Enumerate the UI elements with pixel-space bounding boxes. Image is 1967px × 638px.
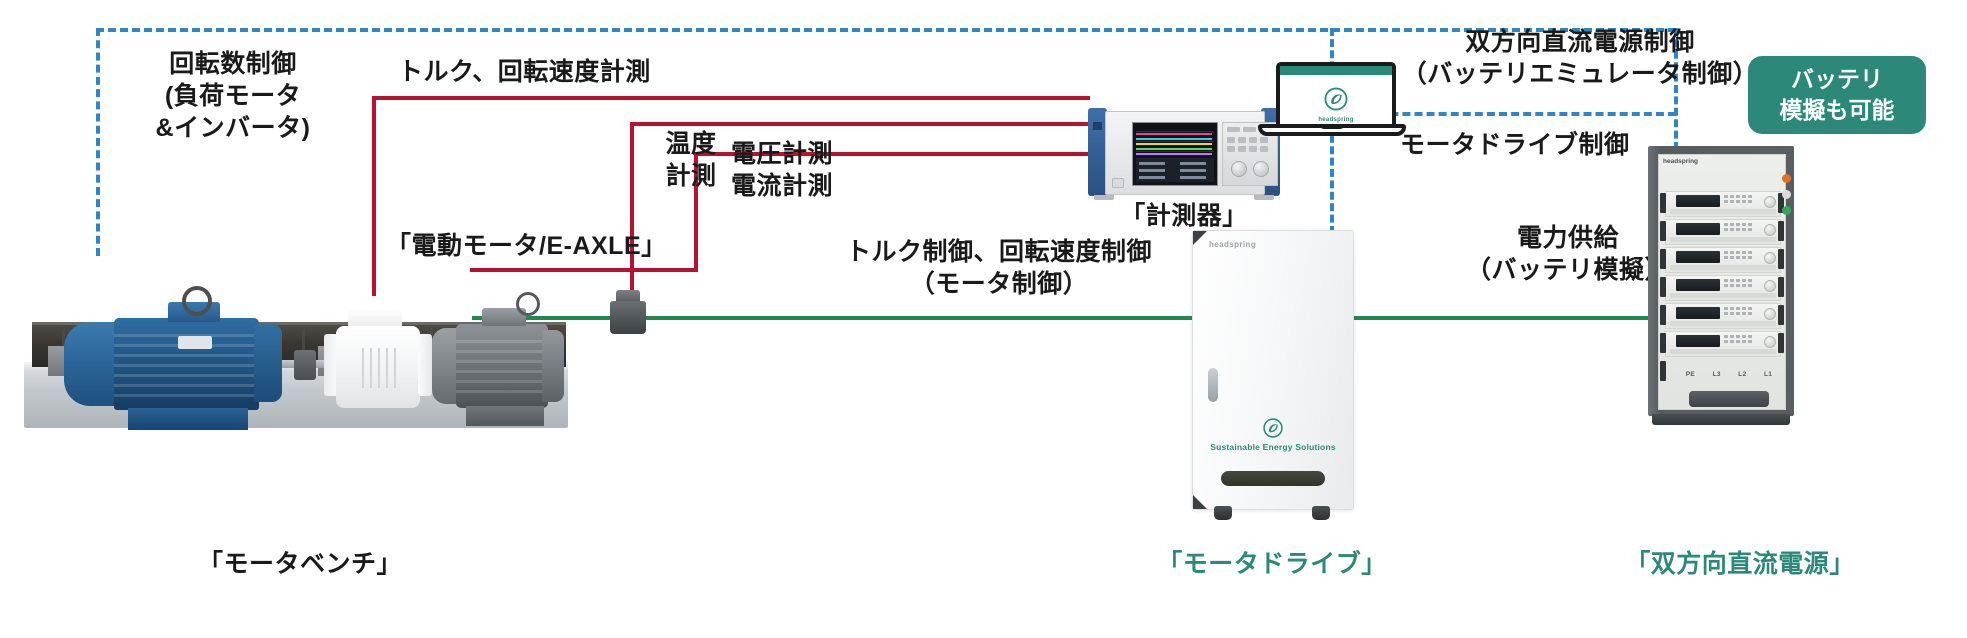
- laptop-trackpad-notch: [1320, 124, 1344, 129]
- terminal-l1: L1: [1764, 371, 1772, 378]
- motor-drive-cabinet: headspring Sustainable Energy Solutions: [1192, 230, 1352, 520]
- measure-line-torque-horizontal: [372, 96, 1090, 100]
- cabinet-caster: [1312, 506, 1330, 520]
- power-supply-unit: [1665, 247, 1781, 273]
- motor-drive-vent: [1221, 471, 1325, 486]
- power-supply-unit: [1665, 275, 1781, 301]
- motor-drive-brand-label: headspring: [1209, 240, 1256, 249]
- power-supply-unit: [1665, 331, 1781, 357]
- label-torque-speed-measure: トルク、回転速度計測: [398, 56, 651, 88]
- meter-readout-area: [1136, 158, 1214, 182]
- power-line-drive-to-supply: [1348, 316, 1654, 320]
- motor-bench-assembly: [18, 236, 578, 436]
- control-laptop: headspring: [1258, 62, 1406, 142]
- laptop-screen-titlebar: [1280, 66, 1392, 75]
- connector-box-body: [610, 301, 646, 334]
- dc-power-supply-caption: 「双方向直流電源」: [1570, 548, 1910, 580]
- power-supply-unit: [1665, 191, 1781, 217]
- measure-line-temp-horizontal: [630, 122, 1090, 126]
- load-motor-eyebolt: [182, 286, 212, 316]
- terminal-l3: L3: [1713, 371, 1721, 378]
- motor-drive-tagline: Sustainable Energy Solutions: [1193, 442, 1353, 452]
- test-motor-base: [466, 406, 544, 426]
- motor-drive-body: headspring Sustainable Energy Solutions: [1192, 230, 1354, 510]
- load-motor-base: [128, 408, 248, 430]
- cabinet-corner-tl: [1193, 231, 1207, 245]
- meter-chassis: [1105, 111, 1265, 195]
- laptop-brand-label: headspring: [1280, 117, 1392, 123]
- terminal-pe: PE: [1686, 371, 1695, 378]
- shaft-coupling-left: [294, 350, 316, 380]
- load-motor-housing: [114, 318, 259, 410]
- badge-line-1: バッテリ: [1791, 64, 1883, 95]
- battery-emulation-badge: バッテリ 模擬も可能: [1748, 56, 1926, 134]
- terminal-l2: L2: [1738, 371, 1746, 378]
- label-motor-drive-control: モータドライブ制御: [1400, 129, 1630, 161]
- diagram-canvas: 回転数制御 (負荷モータ &インバータ) トルク、回転速度計測 温度 計測 電圧…: [0, 0, 1967, 638]
- status-led-green: [1782, 206, 1791, 215]
- measuring-instrument: [1088, 108, 1280, 196]
- laptop-screen: headspring: [1276, 62, 1396, 132]
- label-voltage-current-measure: 電圧計測 電流計測: [712, 138, 852, 202]
- cabinet-door-handle[interactable]: [1208, 368, 1218, 402]
- test-motor-endcap: [542, 330, 564, 402]
- load-motor-nameplate: [178, 336, 212, 349]
- label-speed-control: 回転数制御 (負荷モータ &インバータ): [118, 48, 348, 144]
- status-led-orange: [1782, 174, 1791, 183]
- meter-knob-left[interactable]: [1231, 161, 1247, 177]
- power-line-motor-to-drive: [472, 316, 1196, 320]
- headspring-logo-icon: [1262, 417, 1284, 439]
- cabinet-caster: [1214, 506, 1232, 520]
- motor-drive-caption: 「モータドライブ」: [1122, 548, 1422, 580]
- cable-connector-box: [610, 290, 646, 334]
- rack-interior: headspring: [1658, 154, 1786, 410]
- meter-display-screen: [1132, 122, 1218, 186]
- status-led-gray: [1782, 190, 1791, 199]
- test-motor-housing: [456, 324, 548, 408]
- badge-line-2: 模擬も可能: [1780, 95, 1895, 126]
- headspring-logo-icon: [1323, 86, 1349, 112]
- torque-meter-flange-right: [418, 334, 432, 396]
- test-motor-eyebolt: [516, 292, 540, 316]
- rack-terminal-labels: PE L3 L2 L1: [1677, 367, 1781, 381]
- bench-foot: [48, 346, 64, 376]
- rack-vent: [1689, 391, 1769, 407]
- meter-knob-right[interactable]: [1253, 161, 1269, 177]
- load-motor-endcap: [254, 324, 282, 402]
- control-line-left-vertical: [96, 28, 100, 256]
- rack-base: [1652, 414, 1790, 425]
- motor-bench-caption: 「モータベンチ」: [150, 548, 450, 580]
- rack-brand-label: headspring: [1663, 158, 1698, 165]
- cabinet-corner-bl: [1193, 495, 1207, 509]
- bidirectional-dc-power-supply: headspring: [1648, 146, 1794, 428]
- label-torque-speed-command: トルク制御、回転速度制御 （モータ制御）: [798, 236, 1200, 300]
- power-supply-unit: [1665, 303, 1781, 329]
- meter-caption: 「計測器」: [1084, 200, 1284, 232]
- power-supply-unit: [1665, 219, 1781, 245]
